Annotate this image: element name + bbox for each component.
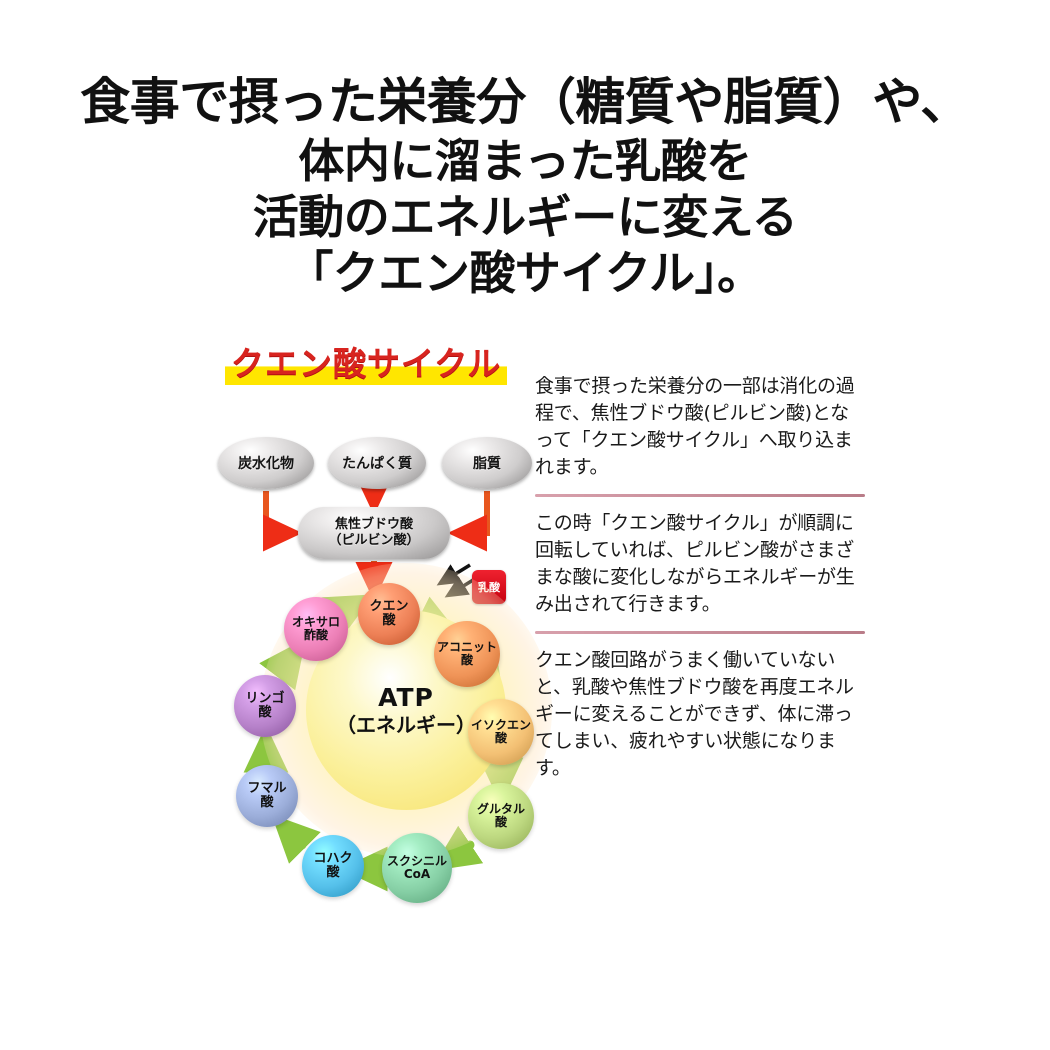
pyruvate-label-line2: （ピルビン酸）	[328, 533, 419, 549]
cycle-node-aconitic: アコニット 酸	[434, 621, 500, 687]
figure-title: クエン酸サイクル	[225, 345, 507, 385]
source-node-lipid: 脂質	[442, 437, 532, 489]
source-node-lipid-label: 脂質	[473, 453, 501, 473]
explanation-paragraph-1: 食事で摂った栄養分の一部は消化の過程で、焦性ブドウ酸(ピルビン酸)となって「クエ…	[535, 373, 865, 481]
atp-label-line2: （エネルギー）	[336, 713, 476, 738]
lactate-badge: 乳酸	[472, 570, 506, 604]
citric-acid-cycle-figure: クエン酸サイクル 炭水化物 たんぱく質 脂質 焦性ブドウ酸 （ピルビン酸） 乳酸…	[170, 325, 890, 905]
explanation-paragraph-2: この時「クエン酸サイクル」が順調に回転していれば、ピルビン酸がさまざまな酸に変化…	[535, 510, 865, 618]
explanation-column: 食事で摂った栄養分の一部は消化の過程で、焦性ブドウ酸(ピルビン酸)となって「クエ…	[535, 373, 865, 782]
cycle-node-malic: リンゴ 酸	[234, 675, 296, 737]
cycle-node-succinic-line2: 酸	[326, 866, 339, 880]
source-node-protein: たんぱく質	[328, 437, 426, 489]
pyruvate-label-line1: 焦性ブドウ酸	[335, 517, 413, 533]
explanation-divider-1	[535, 494, 865, 497]
cycle-node-citric-line1: クエン	[369, 600, 408, 614]
cycle-node-fumaric-line1: フマル	[247, 782, 286, 796]
cycle-node-isocitric: イソクエン 酸	[468, 699, 534, 765]
cycle-node-citric-line2: 酸	[382, 614, 395, 628]
explanation-paragraph-3: クエン酸回路がうまく働いていないと、乳酸や焦性ブドウ酸を再度エネルギーに変えるこ…	[535, 647, 865, 782]
cycle-node-fumaric: フマル 酸	[236, 765, 298, 827]
cycle-node-succinic-line1: コハク	[313, 852, 352, 866]
lactate-badge-label: 乳酸	[478, 579, 500, 595]
cycle-node-succinyl-coa-line2: CoA	[404, 868, 430, 881]
page-headline: 食事で摂った栄養分（糖質や脂質）や、 体内に溜まった乳酸を 活動のエネルギーに変…	[0, 72, 1050, 301]
headline-line-4: 「クエン酸サイクル」。	[0, 245, 1050, 301]
pyruvate-node: 焦性ブドウ酸 （ピルビン酸）	[298, 507, 450, 559]
arrow-carbohydrate-to-pyruvate	[266, 491, 288, 533]
cycle-node-glutaric-line2: 酸	[495, 816, 507, 829]
cycle-node-malic-line2: 酸	[258, 706, 271, 720]
source-node-carbohydrate: 炭水化物	[218, 437, 314, 489]
cycle-node-succinyl-coa: スクシニル CoA	[382, 833, 452, 903]
source-node-carbohydrate-label: 炭水化物	[238, 453, 294, 473]
cycle-node-succinic: コハク 酸	[302, 835, 364, 897]
arrow-succinic-to-fumaric	[284, 827, 302, 845]
cycle-node-isocitric-line2: 酸	[495, 732, 507, 745]
cycle-node-oxaloacetic: オキサロ 酢酸	[284, 597, 348, 661]
cycle-node-glutaric: グルタル 酸	[468, 783, 534, 849]
cycle-node-citric: クエン 酸	[358, 583, 420, 645]
cycle-node-oxaloacetic-line2: 酢酸	[304, 629, 328, 642]
headline-line-1: 食事で摂った栄養分（糖質や脂質）や、	[0, 72, 1050, 133]
page-root: 食事で摂った栄養分（糖質や脂質）や、 体内に溜まった乳酸を 活動のエネルギーに変…	[0, 0, 1050, 1050]
cycle-node-aconitic-line2: 酸	[461, 654, 473, 667]
cycle-node-fumaric-line2: 酸	[260, 796, 273, 810]
headline-line-2: 体内に溜まった乳酸を	[0, 133, 1050, 189]
explanation-divider-2	[535, 631, 865, 634]
cycle-node-malic-line1: リンゴ	[245, 692, 284, 706]
arrow-malic-to-oxaloacetic	[280, 653, 295, 673]
headline-line-3: 活動のエネルギーに変える	[0, 189, 1050, 245]
source-node-protein-label: たんぱく質	[342, 453, 412, 473]
arrow-lipid-to-pyruvate	[462, 491, 487, 533]
atp-label-line1: ATP	[378, 682, 434, 713]
